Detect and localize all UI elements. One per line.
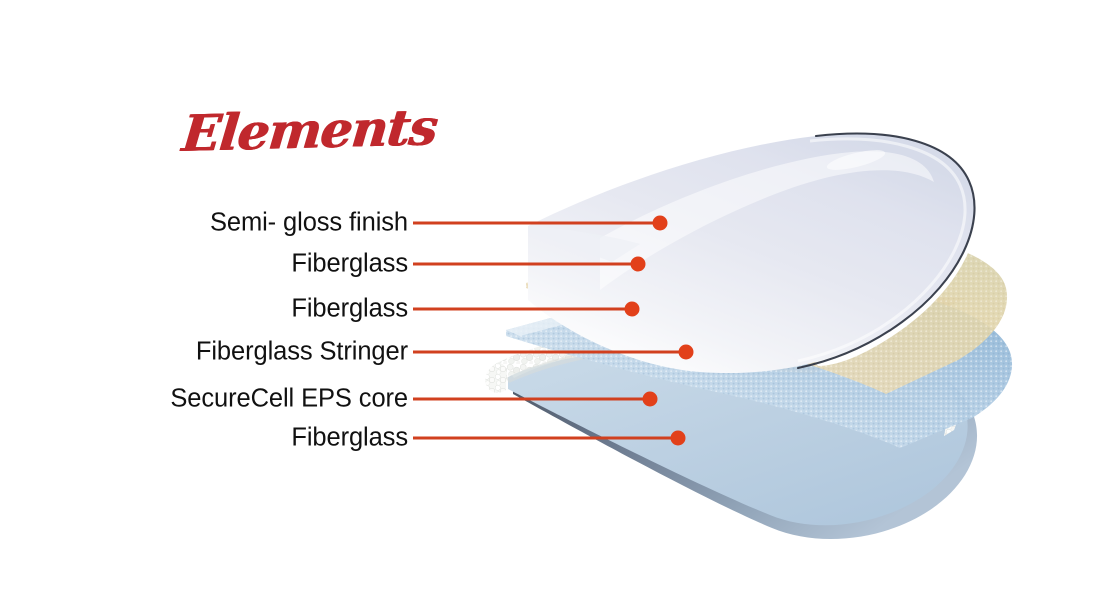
leader-dot-fiberglass-mid xyxy=(625,302,640,317)
leader-dot-fiberglass-bottom xyxy=(671,431,686,446)
label-securecell-eps-core: SecureCell EPS core xyxy=(170,385,408,414)
leader-dot-fiberglass-top xyxy=(631,257,646,272)
leader-dot-semi-gloss-finish xyxy=(653,216,668,231)
leader-line-semi-gloss-finish xyxy=(413,216,668,231)
leader-line-fiberglass-top xyxy=(413,257,646,272)
label-fiberglass-mid: Fiberglass xyxy=(291,295,408,324)
diagram-canvas: Elements Semi- gloss finish Fib xyxy=(0,0,1102,610)
label-fiberglass-top: Fiberglass xyxy=(291,250,408,279)
leader-line-fiberglass-mid xyxy=(413,302,640,317)
leader-dot-fiberglass-stringer xyxy=(679,345,694,360)
leader-dot-securecell-eps-core xyxy=(643,392,658,407)
label-fiberglass-stringer: Fiberglass Stringer xyxy=(196,338,408,367)
leader-line-fiberglass-stringer xyxy=(413,345,694,360)
leader-line-fiberglass-bottom xyxy=(413,431,686,446)
label-fiberglass-bottom: Fiberglass xyxy=(291,424,408,453)
leader-line-securecell-eps-core xyxy=(413,392,658,407)
layer-labels-group: Semi- gloss finish Fiberglass Fiberglass… xyxy=(0,0,408,610)
label-semi-gloss-finish: Semi- gloss finish xyxy=(210,209,408,238)
